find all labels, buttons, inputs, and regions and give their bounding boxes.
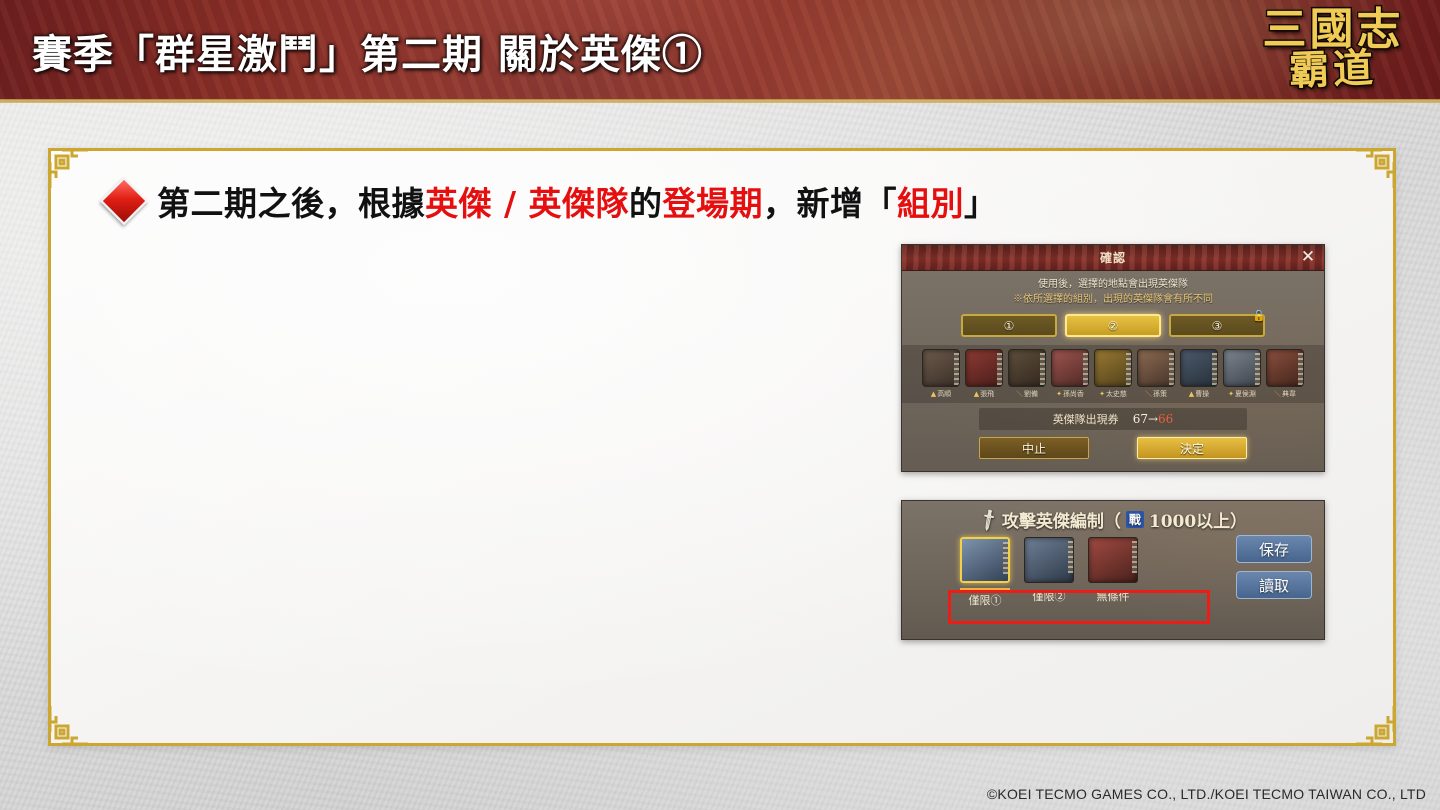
slot-condition-label: 僅限②: [1024, 588, 1074, 604]
avatar: [1180, 349, 1218, 387]
rank-icon: ✦: [1228, 390, 1234, 398]
team-panel-body: 🗡攻擊英傑編制（戰1000以上） 僅限① 僅限② 無條件 保存 讀取: [902, 501, 1324, 639]
hero-name-text: 張飛: [980, 390, 994, 398]
ticket-counter: 英傑隊出現券 67→66: [979, 408, 1247, 430]
avatar: [1137, 349, 1175, 387]
dialog-titlebar: 確認 ✕: [902, 245, 1324, 271]
ticket-after: 66: [1158, 412, 1173, 426]
dialog-body: 使用後，選擇的地點會出現英傑隊 ※依所選擇的組別，出現的英傑隊會有所不同 ① ②…: [902, 271, 1324, 471]
rank-icon: ＼: [1016, 390, 1023, 398]
team-slot-3[interactable]: 無條件: [1088, 537, 1138, 608]
logo-sub-text: 霸道: [1288, 48, 1377, 91]
hero-name: ＼孫策: [1137, 389, 1175, 399]
group-button-1[interactable]: ①: [961, 314, 1057, 337]
dialog-title: 確認: [1100, 249, 1126, 266]
group-selector: ① ② ③ 🔒: [902, 314, 1324, 337]
corner-ornament-icon: [1354, 704, 1396, 746]
hero-name: ✦太史慈: [1094, 389, 1132, 399]
avatar: [1094, 349, 1132, 387]
heading-part-4: 」: [964, 184, 998, 223]
hero-card[interactable]: ▲高順: [922, 349, 960, 399]
hero-name-text: 曹操: [1195, 390, 1209, 398]
dialog-actions: 中止 決定: [902, 437, 1324, 459]
dialog-message-line-2: ※依所選擇的組別，出現的英傑隊會有所不同: [902, 292, 1324, 307]
ticket-before: 67: [1133, 412, 1148, 426]
team-slot-2[interactable]: 僅限②: [1024, 537, 1074, 608]
slot-condition-label: 無條件: [1088, 588, 1138, 604]
hero-portrait-strip: ▲高順 ▲張飛 ＼劉備 ✦孫尚香 ✦太史慈 ＼孫策: [902, 345, 1324, 403]
team-slot-1[interactable]: 僅限①: [960, 537, 1010, 608]
team-formation-screenshot: 🗡攻擊英傑編制（戰1000以上） 僅限① 僅限② 無條件 保存 讀取: [901, 500, 1325, 640]
hero-card[interactable]: ▲曹操: [1180, 349, 1218, 399]
team-title-value: 1000以上）: [1149, 507, 1247, 532]
lock-icon: 🔒: [1252, 309, 1266, 322]
avatar: [965, 349, 1003, 387]
hero-card[interactable]: ▲張飛: [965, 349, 1003, 399]
save-button[interactable]: 保存: [1236, 535, 1312, 563]
hero-card[interactable]: ✦太史慈: [1094, 349, 1132, 399]
ticket-arrow: →: [1148, 412, 1158, 426]
hero-name-text: 孫尚香: [1063, 390, 1084, 398]
ticket-label: 英傑隊出現券: [1053, 411, 1119, 427]
team-action-buttons: 保存 讀取: [1236, 535, 1312, 599]
hero-name-text: 典韋: [1282, 390, 1296, 398]
hero-name: ✦夏侯淵: [1223, 389, 1261, 399]
close-icon[interactable]: ✕: [1299, 248, 1317, 266]
rank-icon: ✦: [1099, 390, 1105, 398]
slot-condition-label: 僅限①: [960, 588, 1010, 608]
confirm-dialog-screenshot: 確認 ✕ 使用後，選擇的地點會出現英傑隊 ※依所選擇的組別，出現的英傑隊會有所不…: [901, 244, 1325, 472]
load-button[interactable]: 讀取: [1236, 571, 1312, 599]
ticket-values: 67→66: [1133, 412, 1174, 426]
avatar: [1088, 537, 1138, 583]
rank-icon: ▲: [974, 390, 979, 398]
header-gold-rule: [0, 99, 1440, 103]
confirm-button[interactable]: 決定: [1137, 437, 1247, 459]
hero-card[interactable]: ＼典韋: [1266, 349, 1304, 399]
heading-part-1: 第二期之後，根據: [157, 184, 425, 223]
brand-logo: 三國志 霸道: [1240, 2, 1426, 130]
page-title: 賽季「群星激鬥」第二期 關於英傑①: [32, 22, 703, 80]
avatar: [1008, 349, 1046, 387]
section-heading-text: 第二期之後，根據英傑 / 英傑隊的登場期，新增「組別」: [157, 177, 998, 225]
copyright-footer: ©KOEI TECMO GAMES CO., LTD./KOEI TECMO T…: [987, 786, 1426, 802]
battle-power-chip: 戰: [1126, 511, 1144, 528]
rank-icon: ＼: [1274, 390, 1281, 398]
heading-highlight-1: 英傑 / 英傑隊: [425, 184, 629, 223]
hero-name-text: 太史慈: [1106, 390, 1127, 398]
hero-name: ▲曹操: [1180, 389, 1218, 399]
avatar: [1223, 349, 1261, 387]
group-button-label: ②: [1108, 319, 1119, 333]
hero-name-text: 夏侯淵: [1235, 390, 1256, 398]
avatar: [1024, 537, 1074, 583]
heading-part-3: ，新增「: [763, 184, 897, 223]
group-button-3[interactable]: ③ 🔒: [1169, 314, 1265, 337]
avatar: [960, 537, 1010, 583]
team-panel-title: 🗡攻擊英傑編制（戰1000以上）: [912, 507, 1314, 532]
hero-name-text: 劉備: [1024, 390, 1038, 398]
hero-name-text: 高順: [937, 390, 951, 398]
hero-name-text: 孫策: [1153, 390, 1167, 398]
avatar: [1051, 349, 1089, 387]
section-heading: 第二期之後，根據英傑 / 英傑隊的登場期，新增「組別」: [107, 177, 998, 225]
hero-name: ＼劉備: [1008, 389, 1046, 399]
hero-card[interactable]: ＼劉備: [1008, 349, 1046, 399]
corner-ornament-icon: [1354, 148, 1396, 190]
group-button-label: ①: [1004, 319, 1015, 333]
group-button-label: ③: [1212, 319, 1223, 333]
hero-card[interactable]: ＼孫策: [1137, 349, 1175, 399]
hero-name: ✦孫尚香: [1051, 389, 1089, 399]
hero-card[interactable]: ✦孫尚香: [1051, 349, 1089, 399]
sword-icon: 🗡: [975, 507, 1001, 533]
rank-icon: ▲: [931, 390, 936, 398]
dialog-message-line-1: 使用後，選擇的地點會出現英傑隊: [902, 277, 1324, 292]
rank-icon: ＼: [1145, 390, 1152, 398]
heading-part-2: 的: [629, 184, 663, 223]
avatar: [922, 349, 960, 387]
hero-name: ▲張飛: [965, 389, 1003, 399]
rank-icon: ✦: [1056, 390, 1062, 398]
rank-icon: ▲: [1189, 390, 1194, 398]
team-title-text: 攻擊英傑編制（: [1002, 507, 1121, 532]
corner-ornament-icon: [48, 704, 90, 746]
group-button-2[interactable]: ②: [1065, 314, 1161, 337]
cancel-button[interactable]: 中止: [979, 437, 1089, 459]
hero-card[interactable]: ✦夏侯淵: [1223, 349, 1261, 399]
avatar: [1266, 349, 1304, 387]
heading-highlight-2: 登場期: [663, 184, 764, 223]
hero-name: ▲高順: [922, 389, 960, 399]
dialog-message: 使用後，選擇的地點會出現英傑隊 ※依所選擇的組別，出現的英傑隊會有所不同: [902, 277, 1324, 307]
red-diamond-icon: [100, 177, 148, 225]
corner-ornament-icon: [48, 148, 90, 190]
hero-name: ＼典韋: [1266, 389, 1304, 399]
heading-highlight-3: 組別: [897, 184, 964, 223]
